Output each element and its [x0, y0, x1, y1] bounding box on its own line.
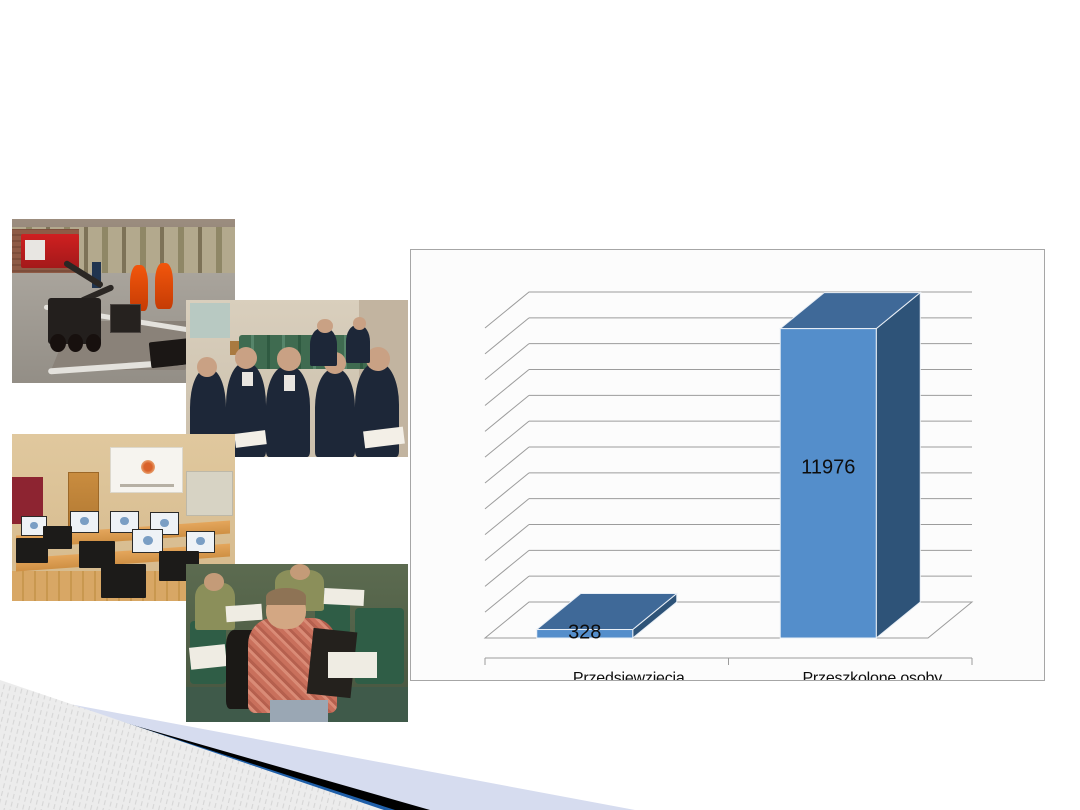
slide-canvas: 328 11976 Przedsięwzięcia Przeszkolone o…: [0, 0, 1080, 810]
plot-background: [411, 250, 1044, 680]
decoration-texture-wedge: [0, 680, 384, 810]
bar-value-1: 11976: [801, 456, 855, 479]
chart-svg: [411, 250, 1044, 680]
chart-plot-area: 328 11976 Przedsięwzięcia Przeszkolone o…: [411, 250, 1044, 680]
bar-value-0: 328: [568, 622, 601, 645]
chart-frame: 328 11976 Przedsięwzięcia Przeszkolone o…: [410, 249, 1045, 681]
slide-bottom-decoration: [0, 675, 1080, 810]
